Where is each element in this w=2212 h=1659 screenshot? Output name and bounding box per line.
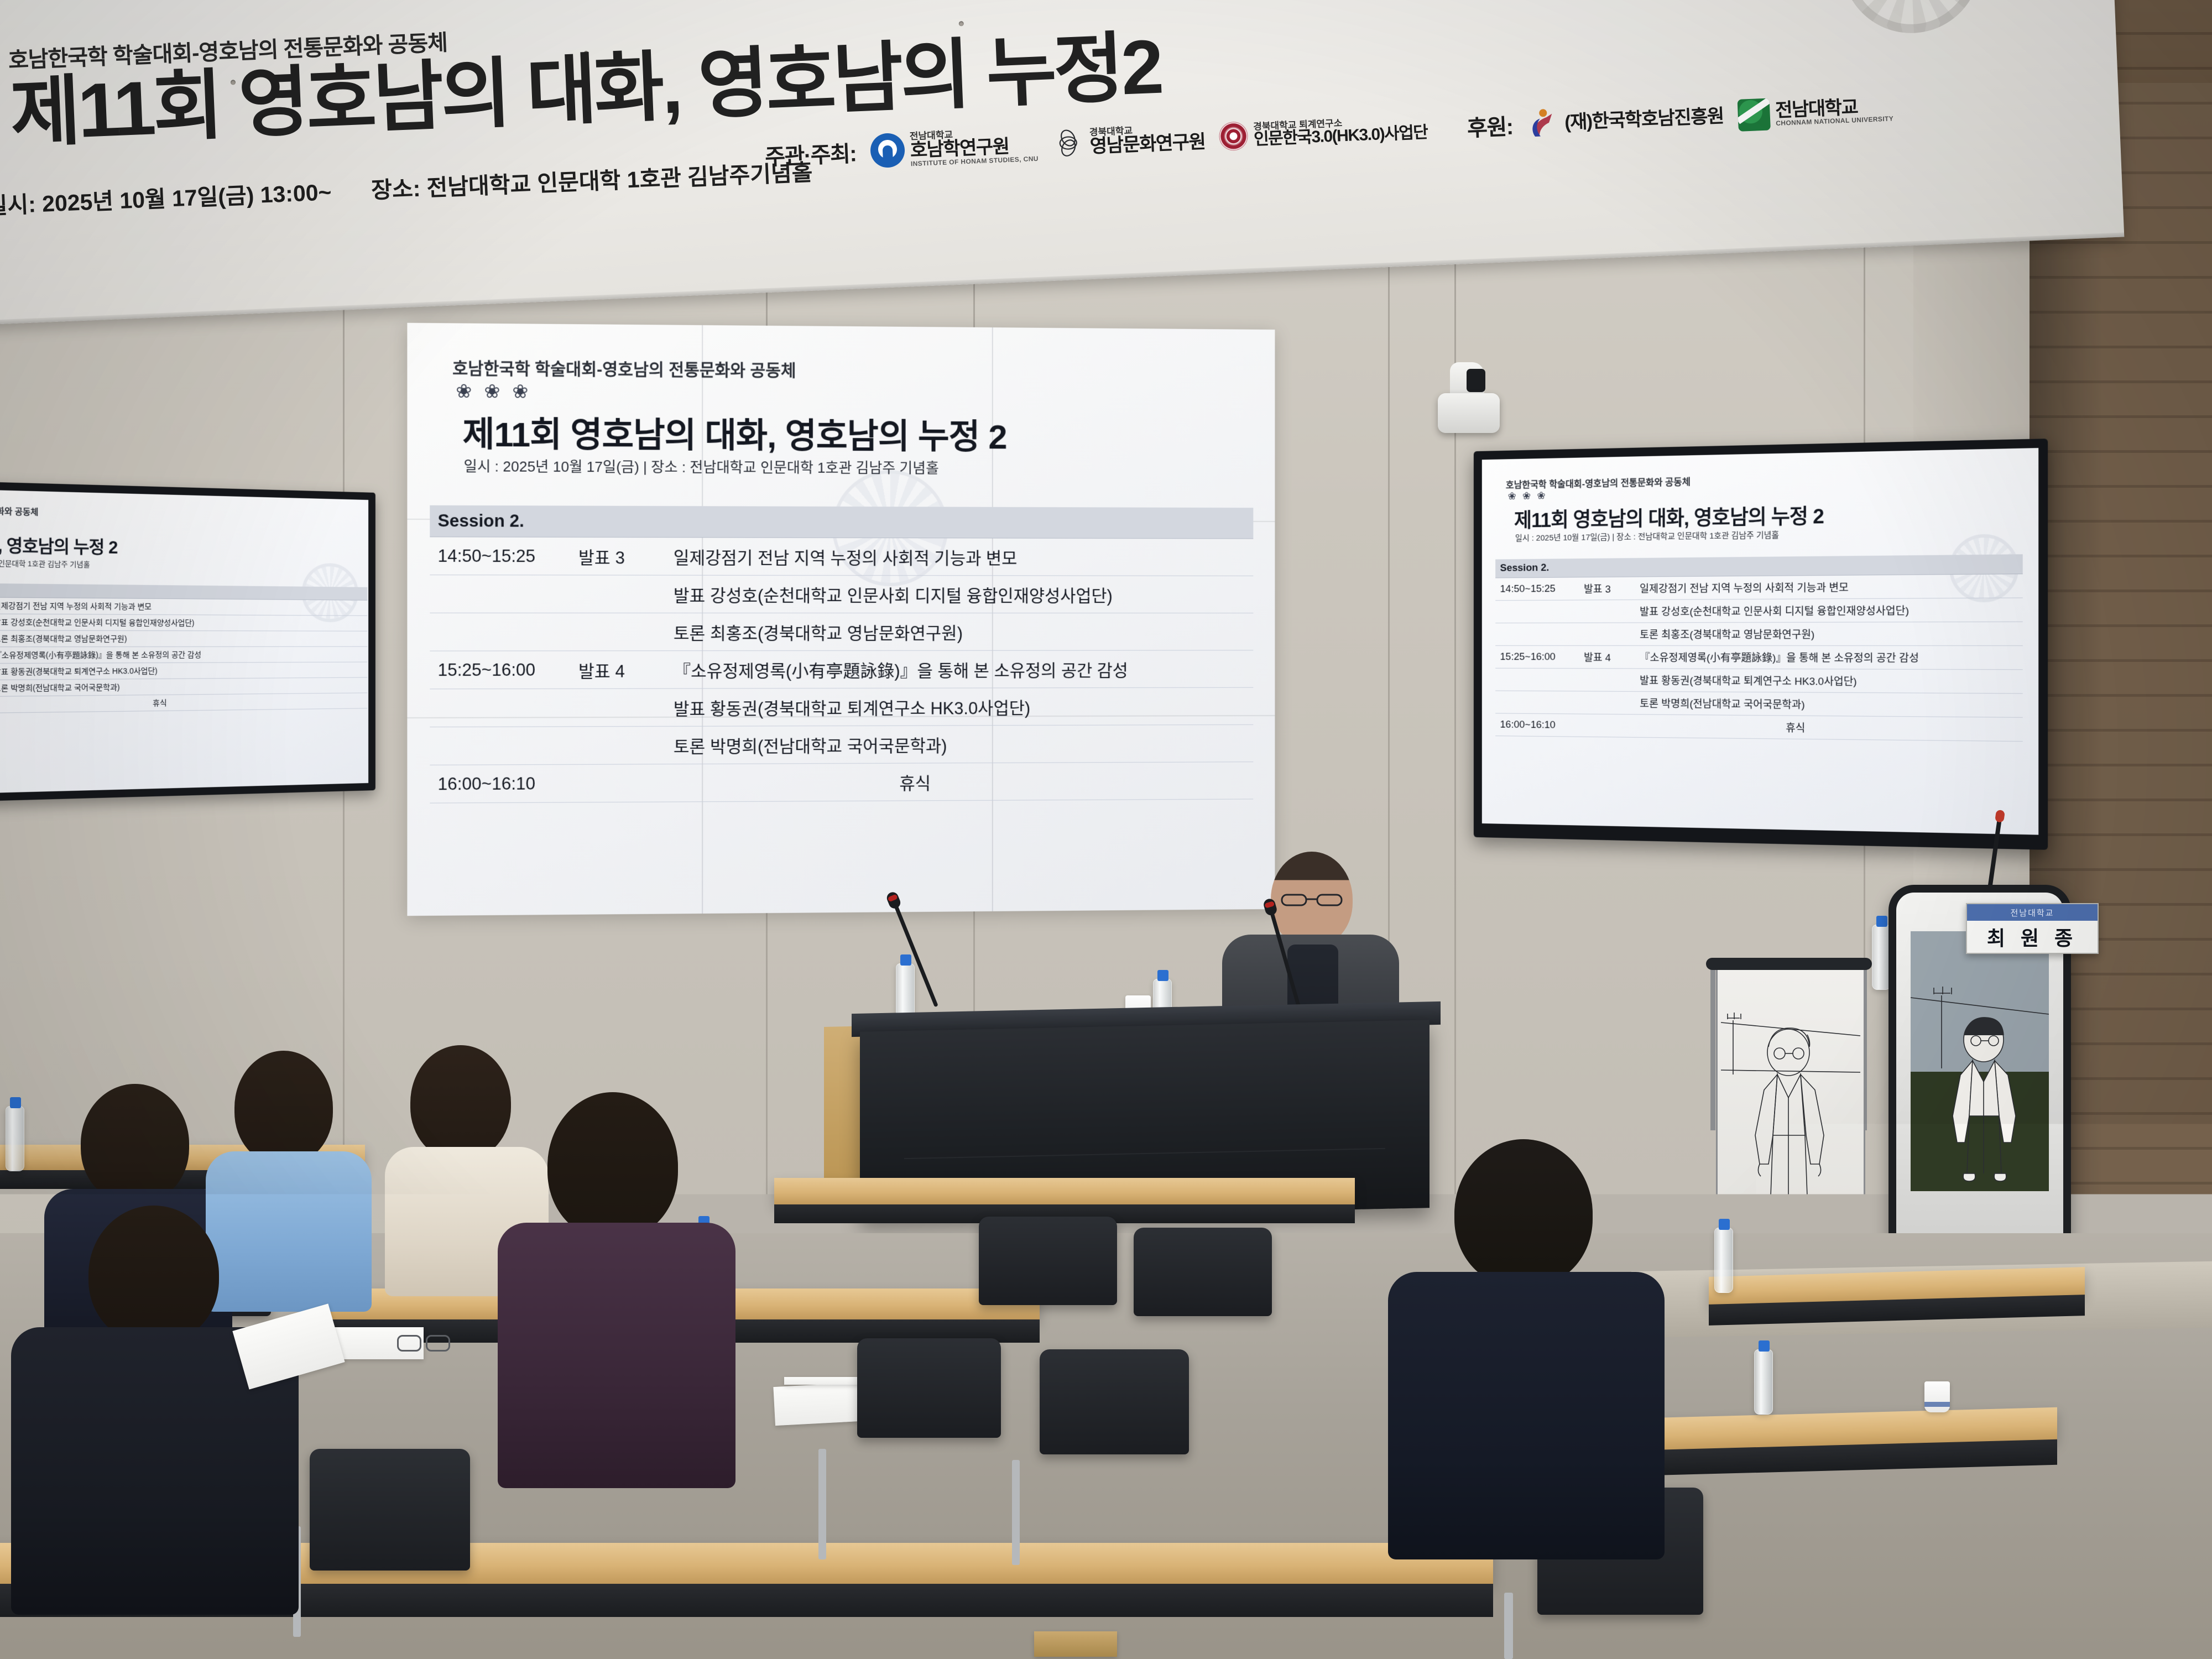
audience-head xyxy=(234,1051,333,1165)
schedule-text: 일제강점기 전남 지역 누정의 사회적 기능과 변모 xyxy=(1635,574,2022,600)
water-bottle xyxy=(6,1106,24,1171)
chair-leg xyxy=(1504,1593,1513,1659)
schedule-tag xyxy=(1579,623,1635,645)
schedule-time xyxy=(1495,691,1579,714)
organizer-label: 주관·주최: xyxy=(764,135,857,171)
schedule-time: 16:00~16:10 xyxy=(1495,713,1579,737)
schedule-row: 발표 강성호(순천대학교 인문사회 디지털 융합인재양성사업단) xyxy=(0,613,367,631)
slide-title: 제11회 영호남의 대화, 영호남의 누정 2 xyxy=(1514,499,1824,534)
camera-lens-icon xyxy=(1467,369,1485,392)
schedule-tag: 발표 4 xyxy=(571,651,666,689)
chair xyxy=(857,1338,1001,1438)
schedule-text: 발표 황동권(경북대학교 퇴계연구소 HK3.0사업단) xyxy=(666,687,1254,726)
sponsor-logo-chonnam: 전남대학교 CHONNAM NATIONAL UNIVERSITY xyxy=(1737,93,1893,131)
schedule-row: 14:50~15:25발표 3일제강점기 전남 지역 누정의 사회적 기능과 변… xyxy=(1495,574,2023,601)
schedule-row: 토론 박명희(전남대학교 국어국문학과) xyxy=(430,724,1253,765)
line-drawing-portrait-icon xyxy=(1718,969,1864,1220)
schedule-time xyxy=(1495,600,1579,623)
audience-member xyxy=(33,1206,271,1593)
longevity-su-medallion-icon xyxy=(1839,0,1983,36)
banner-place: 장소: 전남대학교 인문대학 1호관 김남주기념홀 xyxy=(371,154,813,205)
honam-institute-icon xyxy=(870,133,905,168)
schedule-text: 발표 강성호(순천대학교 인문사회 디지털 융합인재양성사업단) xyxy=(1635,598,2022,623)
org-logo-yeongnam: 경북대학교 영남문화연구원 xyxy=(1052,122,1206,160)
schedule-time: 16:00~16:10 xyxy=(430,764,570,803)
schedule-time: 15:25~16:00 xyxy=(430,651,570,689)
banner-grommet xyxy=(959,21,964,26)
schedule-row: 15:25~16:00발표 4『소유정제영록(小有亭題詠錄)』을 통해 본 소유… xyxy=(0,646,367,664)
banner-meta-row: 일시: 2025년 10월 17일(금) 13:00~ 장소: 전남대학교 인문… xyxy=(0,154,813,221)
sponsor-label: 후원: xyxy=(1467,109,1514,143)
schedule-tag xyxy=(1579,669,1635,692)
schedule-row: 15:25~16:00발표 4『소유정제영록(小有亭題詠錄)』을 통해 본 소유… xyxy=(430,650,1253,689)
schedule-tag xyxy=(1579,600,1635,623)
audience-torso xyxy=(498,1223,735,1488)
eyeglasses-icon xyxy=(1280,893,1345,907)
slide-main: 호남한국학 학술대회-영호남의 전통문화와 공동체 ❀ ❀ ❀ 제11회 영호남… xyxy=(407,323,1275,916)
ptz-camera-base xyxy=(1438,393,1500,433)
schedule-row: 토론 최홍조(경북대학교 영남문화연구원) xyxy=(1495,622,2023,645)
schedule-tag: 발표 3 xyxy=(1579,577,1635,600)
schedule-time xyxy=(430,613,570,651)
chair xyxy=(1040,1349,1189,1454)
schedule-row: 발표 강성호(순천대학교 인문사회 디지털 융합인재양성사업단) xyxy=(1495,598,2023,623)
slide-meta: 일시 : 2025년 10월 17일(금) | 장소 : 전남대학교 인문대학 … xyxy=(464,455,939,478)
schedule-text: 『소유정제영록(小有亭題詠錄)』을 통해 본 소유정의 공간 감성 xyxy=(666,650,1254,688)
lectern-poster-art xyxy=(1911,931,2049,1191)
nameplate-name: 최 원 종 xyxy=(1967,921,2098,953)
schedule-text: 일제강점기 전남 지역 누정의 사회적 기능과 변모 xyxy=(666,538,1254,576)
knu-seal-icon xyxy=(1219,121,1249,151)
korea-studies-swirl-icon xyxy=(1526,107,1559,140)
schedule-row: 발표 황동권(경북대학교 퇴계연구소 HK3.0사업단) xyxy=(1495,668,2023,693)
chair-leg xyxy=(818,1449,826,1559)
lectern-nameplate: 전남대학교 최 원 종 xyxy=(1966,903,2099,954)
schedule-tag xyxy=(571,688,666,727)
schedule-row: 발표 강성호(순천대학교 인문사회 디지털 융합인재양성사업단) xyxy=(430,575,1253,613)
small-box xyxy=(1034,1631,1117,1657)
easel-board xyxy=(1716,968,1865,1222)
schedule-row: 토론 최홍조(경북대학교 영남문화연구원) xyxy=(430,613,1253,651)
water-bottle xyxy=(1714,1228,1733,1293)
easel-clamp-bar xyxy=(1706,958,1872,970)
schedule-tag xyxy=(571,613,666,651)
eyeglasses-icon xyxy=(397,1335,450,1349)
projection-screen: 호남한국학 학술대회-영호남의 전통문화와 공동체 ❀ ❀ ❀ 제11회 영호남… xyxy=(407,323,1275,916)
org-logo-honam: 전남대학교 호남학연구원 INSTITUTE OF HONAM STUDIES,… xyxy=(870,127,1039,169)
chonnam-university-icon xyxy=(1737,98,1770,132)
banner-date: 일시: 2025년 10월 17일(금) 13:00~ xyxy=(0,173,332,221)
schedule-time xyxy=(430,575,570,613)
schedule-text: 토론 최홍조(경북대학교 영남문화연구원) xyxy=(1635,622,2022,645)
schedule-row: 발표 황동권(경북대학교 퇴계연구소 HK3.0사업단) xyxy=(430,687,1253,727)
audience-head-gray xyxy=(1250,1239,1398,1397)
schedule-time: 14:50~15:25 xyxy=(1495,577,1579,601)
schedule-text: 『소유정제영록(小有亭題詠錄)』을 통해 본 소유정의 공간 감성 xyxy=(1635,645,2022,669)
poster-portrait-icon xyxy=(1911,931,2049,1191)
schedule-text: 휴식 xyxy=(1579,714,2022,742)
slide-ornament: ❀ ❀ ❀ xyxy=(1508,489,1547,503)
slide-schedule-table: Session 2.14:50~15:25발표 3일제강점기 전남 지역 누정의… xyxy=(1495,554,2023,742)
slide-schedule-table: Session 2.14:50~15:25발표 3일제강점기 전남 지역 누정의… xyxy=(430,505,1253,804)
schedule-tag xyxy=(571,575,666,613)
schedule-text: 토론 박명희(전남대학교 국어국문학과) xyxy=(1635,691,2022,717)
ptz-camera xyxy=(1438,362,1500,433)
slide-left: 호남한국학 학술대회-영호남의 전통문화와 공동체 제11회 영호남의 대화, … xyxy=(0,488,368,795)
water-bottle xyxy=(1872,925,1891,990)
schedule-tag xyxy=(1579,691,1635,714)
schedule-time xyxy=(430,727,570,765)
slide-right: 호남한국학 학술대회-영호남의 전통문화와 공동체 ❀ ❀ ❀ 제11회 영호남… xyxy=(1482,448,2038,835)
schedule-text: 토론 최홍조(경북대학교 영남문화연구원) xyxy=(666,613,1254,650)
schedule-tag: 발표 3 xyxy=(571,537,666,575)
schedule-text: 토론 박명희(전남대학교 국어국문학과) xyxy=(666,724,1254,764)
schedule-text: 발표 황동권(경북대학교 퇴계연구소 HK3.0사업단) xyxy=(1635,669,2022,693)
schedule-time xyxy=(430,688,570,727)
schedule-time: 15:25~16:00 xyxy=(1495,645,1579,668)
right-monitor: 호남한국학 학술대회-영호남의 전통문화와 공동체 ❀ ❀ ❀ 제11회 영호남… xyxy=(1474,439,2048,850)
slide-kicker: 호남한국학 학술대회-영호남의 전통문화와 공동체 xyxy=(452,354,796,381)
audience-torso xyxy=(1172,1380,1482,1659)
sponsor-md: (재)한국학호남진흥원 xyxy=(1564,107,1724,132)
schedule-time xyxy=(1495,623,1579,645)
audience-head xyxy=(410,1045,511,1160)
conference-hall-photo: 호남한국학 학술대회-영호남의 전통문화와 공동체 제11회 영호남의 대화, … xyxy=(0,0,2212,1659)
audience-head xyxy=(88,1206,219,1344)
sponsor-logo-hanguk: (재)한국학호남진흥원 xyxy=(1526,100,1724,140)
left-monitor: 호남한국학 학술대회-영호남의 전통문화와 공동체 제11회 영호남의 대화, … xyxy=(0,480,375,803)
schedule-text: 휴식 xyxy=(0,693,367,714)
schedule-time: 14:50~15:25 xyxy=(430,537,570,575)
schedule-time xyxy=(1495,668,1579,691)
schedule-tag xyxy=(571,726,666,764)
chair-leg xyxy=(1012,1460,1020,1565)
slide-kicker: 호남한국학 학술대회-영호남의 전통문화와 공동체 xyxy=(0,502,38,518)
knot-icon xyxy=(1052,127,1085,160)
schedule-text: 일제강점기 전남 지역 누정의 사회적 기능과 변모 xyxy=(0,597,367,615)
slide-kicker: 호남한국학 학술대회-영호남의 전통문화와 공동체 xyxy=(1506,474,1691,491)
org-md: 영남문화연구원 xyxy=(1089,133,1206,156)
paper-cup xyxy=(1924,1381,1950,1412)
schedule-row: 16:00~16:10휴식 xyxy=(0,693,367,715)
schedule-text: 발표 강성호(순천대학교 인문사회 디지털 융합인재양성사업단) xyxy=(666,575,1254,613)
easel-leg xyxy=(1710,964,1715,1130)
schedule-tag: 발표 4 xyxy=(1579,645,1635,668)
schedule-row: 16:00~16:10휴식 xyxy=(430,762,1253,803)
slide-schedule-table: Session 2.14:50~15:25발표 3일제강점기 전남 지역 누정의… xyxy=(0,582,367,715)
chair xyxy=(979,1217,1117,1305)
audience-member xyxy=(1206,1239,1454,1659)
audience-member xyxy=(514,1092,713,1479)
schedule-text: 토론 최홍조(경북대학교 영남문화연구원) xyxy=(0,630,367,647)
schedule-text: 『소유정제영록(小有亭題詠錄)』을 통해 본 소유정의 공간 감성 xyxy=(0,646,367,664)
schedule-row: 16:00~16:10휴식 xyxy=(1495,713,2023,742)
audience-table xyxy=(774,1178,1355,1204)
session-header: Session 2. xyxy=(430,505,1253,539)
slide-ornament: ❀ ❀ ❀ xyxy=(456,380,531,403)
slide-title: 제11회 영호남의 대화, 영호남의 누정 2 xyxy=(462,406,1006,458)
org-logo-toegye: 경북대학교 퇴계연구소 인문한국3.0(HK3.0)사업단 xyxy=(1219,114,1428,151)
chair xyxy=(310,1449,470,1571)
schedule-header-row: Session 2. xyxy=(430,505,1253,539)
schedule-text: 휴식 xyxy=(571,762,1254,802)
schedule-row: 14:50~15:25발표 3일제강점기 전남 지역 누정의 사회적 기능과 변… xyxy=(430,537,1253,576)
audience-head xyxy=(547,1092,678,1239)
schedule-text: 발표 강성호(순천대학교 인문사회 디지털 융합인재양성사업단) xyxy=(0,614,367,631)
schedule-row: 15:25~16:00발표 4『소유정제영록(小有亭題詠錄)』을 통해 본 소유… xyxy=(1495,645,2023,669)
nameplate-affiliation: 전남대학교 xyxy=(1967,904,2098,921)
audience-head xyxy=(1454,1139,1593,1287)
water-bottle xyxy=(1754,1349,1773,1415)
schedule-row: 토론 최홍조(경북대학교 영남문화연구원) xyxy=(0,630,367,647)
slide-title: 제11회 영호남의 대화, 영호남의 누정 2 xyxy=(0,528,117,559)
audience-head xyxy=(81,1084,189,1203)
